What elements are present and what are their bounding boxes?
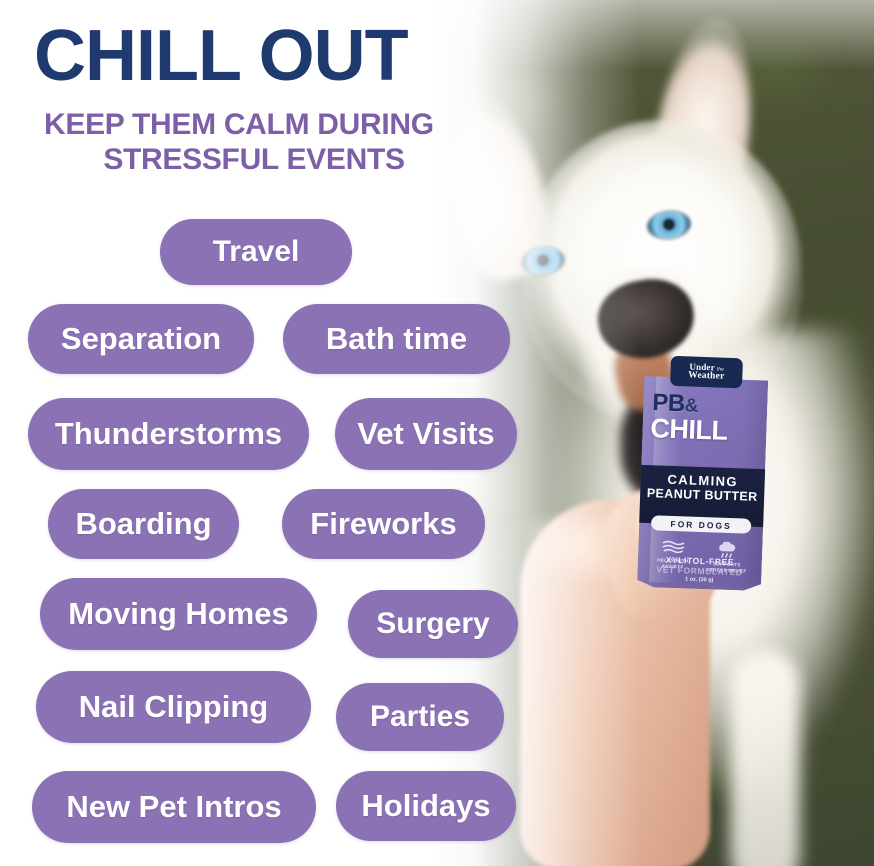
use-case-pill[interactable]: Nail Clipping — [36, 671, 311, 743]
product-name-chill: CHILL — [642, 416, 767, 446]
audience-badge: FOR DOGS — [651, 515, 751, 533]
use-case-pill[interactable]: Parties — [336, 683, 504, 751]
use-case-pill[interactable]: Vet Visits — [335, 398, 517, 470]
promo-graphic: Under the Weather PB& CHILL CALMING PEAN… — [0, 0, 874, 866]
brand-logo-the: the — [717, 367, 724, 372]
use-case-pill[interactable]: New Pet Intros — [32, 771, 316, 843]
audience-badge-wrap: FOR DOGS — [651, 515, 751, 533]
brand-logo: Under the Weather — [670, 356, 743, 388]
use-case-pill[interactable]: Travel — [160, 219, 352, 285]
use-case-pill[interactable]: Thunderstorms — [28, 398, 309, 470]
product-package: Under the Weather PB& CHILL CALMING PEAN… — [637, 353, 769, 591]
use-case-pill[interactable]: Boarding — [48, 489, 239, 559]
descriptor-peanut-butter: PEANUT BUTTER — [640, 486, 764, 505]
use-case-pill[interactable]: Separation — [28, 304, 254, 374]
use-case-pill[interactable]: Holidays — [336, 771, 516, 841]
use-case-pill-list: TravelSeparationBath timeThunderstormsVe… — [0, 0, 560, 866]
use-case-pill[interactable]: Surgery — [348, 590, 518, 658]
use-case-pill[interactable]: Moving Homes — [40, 578, 317, 650]
use-case-pill[interactable]: Fireworks — [282, 489, 485, 559]
brand-logo-line2: Weather — [688, 371, 725, 382]
package-front-panel: PB& CHILL CALMING PEANUT BUTTER FOR DOGS — [637, 353, 769, 591]
use-case-pill[interactable]: Bath time — [283, 304, 510, 374]
